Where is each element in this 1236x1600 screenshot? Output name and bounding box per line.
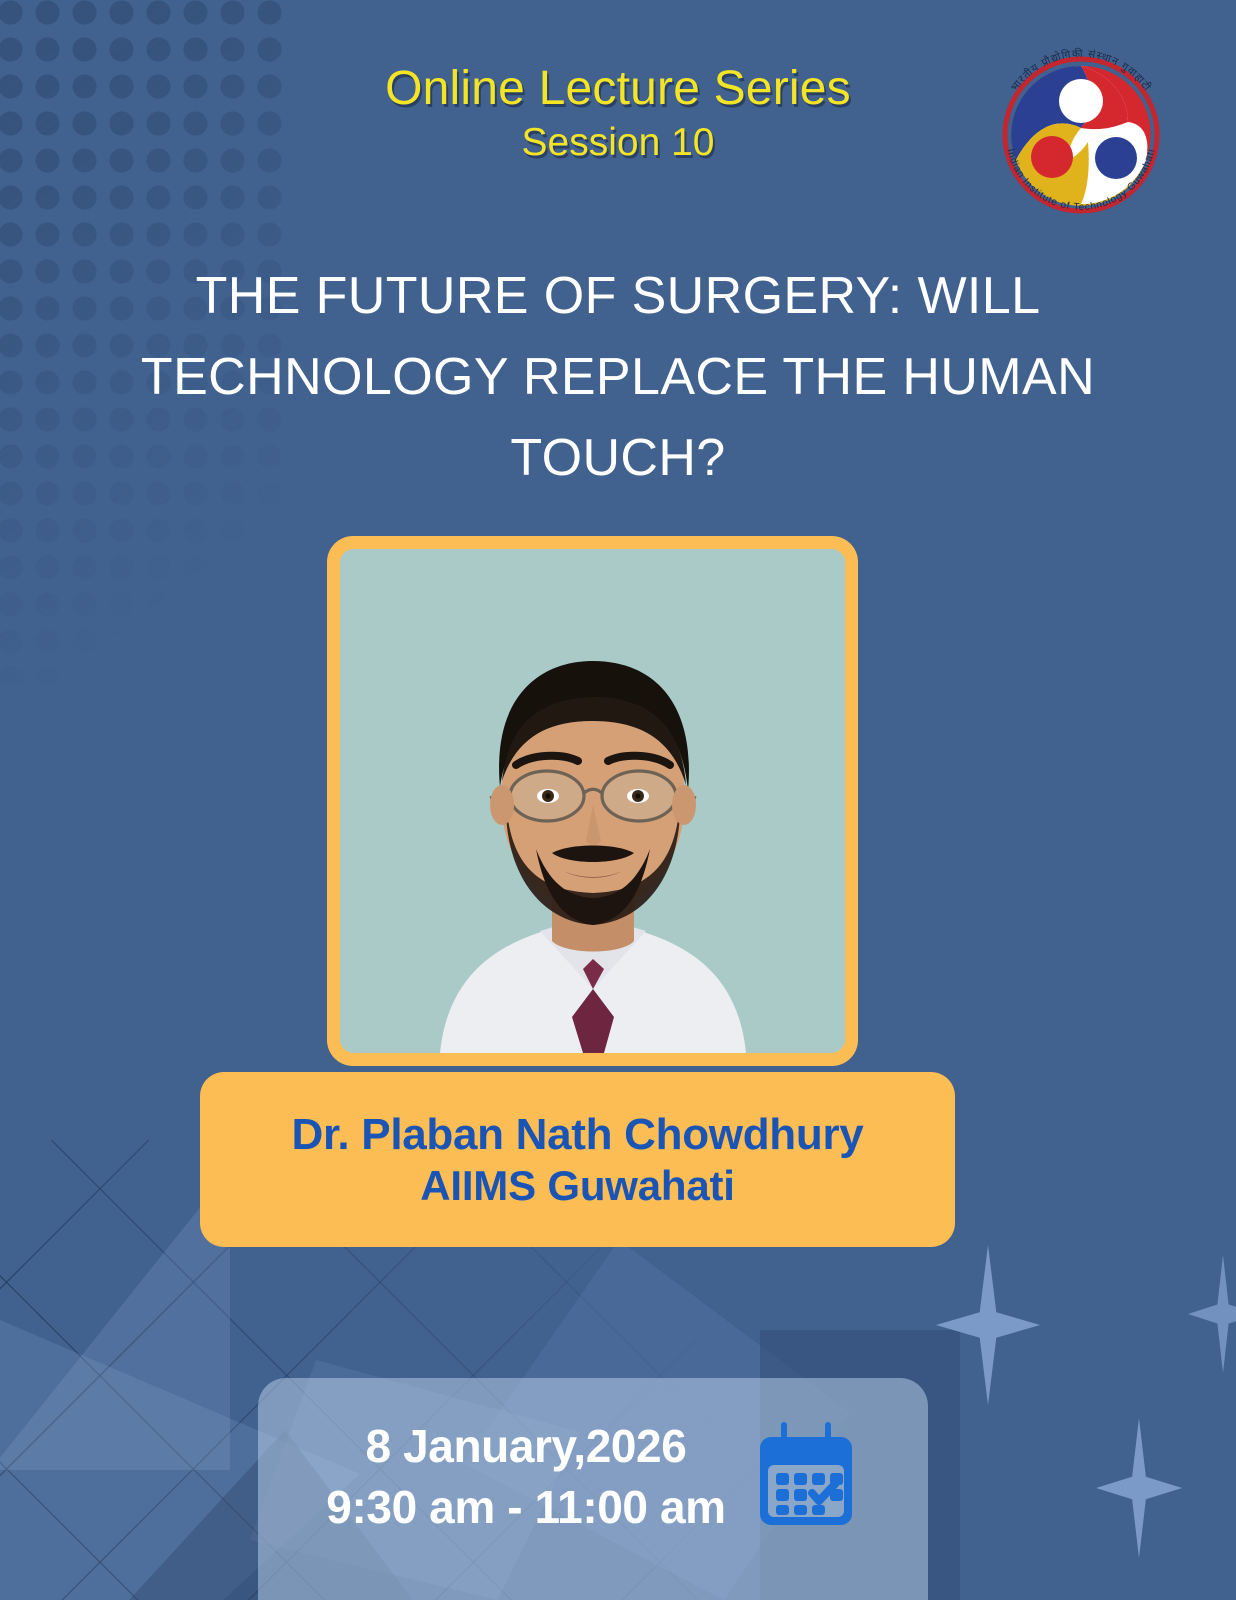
speaker-photo [340,549,845,1053]
event-time: 9:30 am - 11:00 am [326,1477,725,1538]
speaker-affiliation: AIIMS Guwahati [420,1161,735,1211]
iit-guwahati-logo-icon: भारतीय प्रौद्योगिकी संस्थान गुवाहाटी Ind… [978,32,1184,238]
schedule-box: 8 January,2026 9:30 am - 11:00 am [258,1378,928,1600]
speaker-photo-frame [327,536,858,1066]
schedule-text: 8 January,2026 9:30 am - 11:00 am [326,1416,725,1537]
decorative-triangle-1 [0,1170,230,1470]
sparkle-icon-2 [1096,1418,1182,1558]
event-date: 8 January,2026 [326,1416,725,1477]
lecture-title: THE FUTURE OF SURGERY: WILL TECHNOLOGY R… [80,256,1156,499]
lecture-poster: Online Lecture Series Session 10 भारतीय … [0,0,1236,1600]
sparkle-icon-1 [936,1245,1040,1405]
speaker-name-banner: Dr. Plaban Nath Chowdhury AIIMS Guwahati [200,1072,955,1247]
speaker-name: Dr. Plaban Nath Chowdhury [292,1109,864,1161]
sparkle-icon-3 [1188,1255,1236,1373]
calendar-check-icon [752,1421,860,1533]
